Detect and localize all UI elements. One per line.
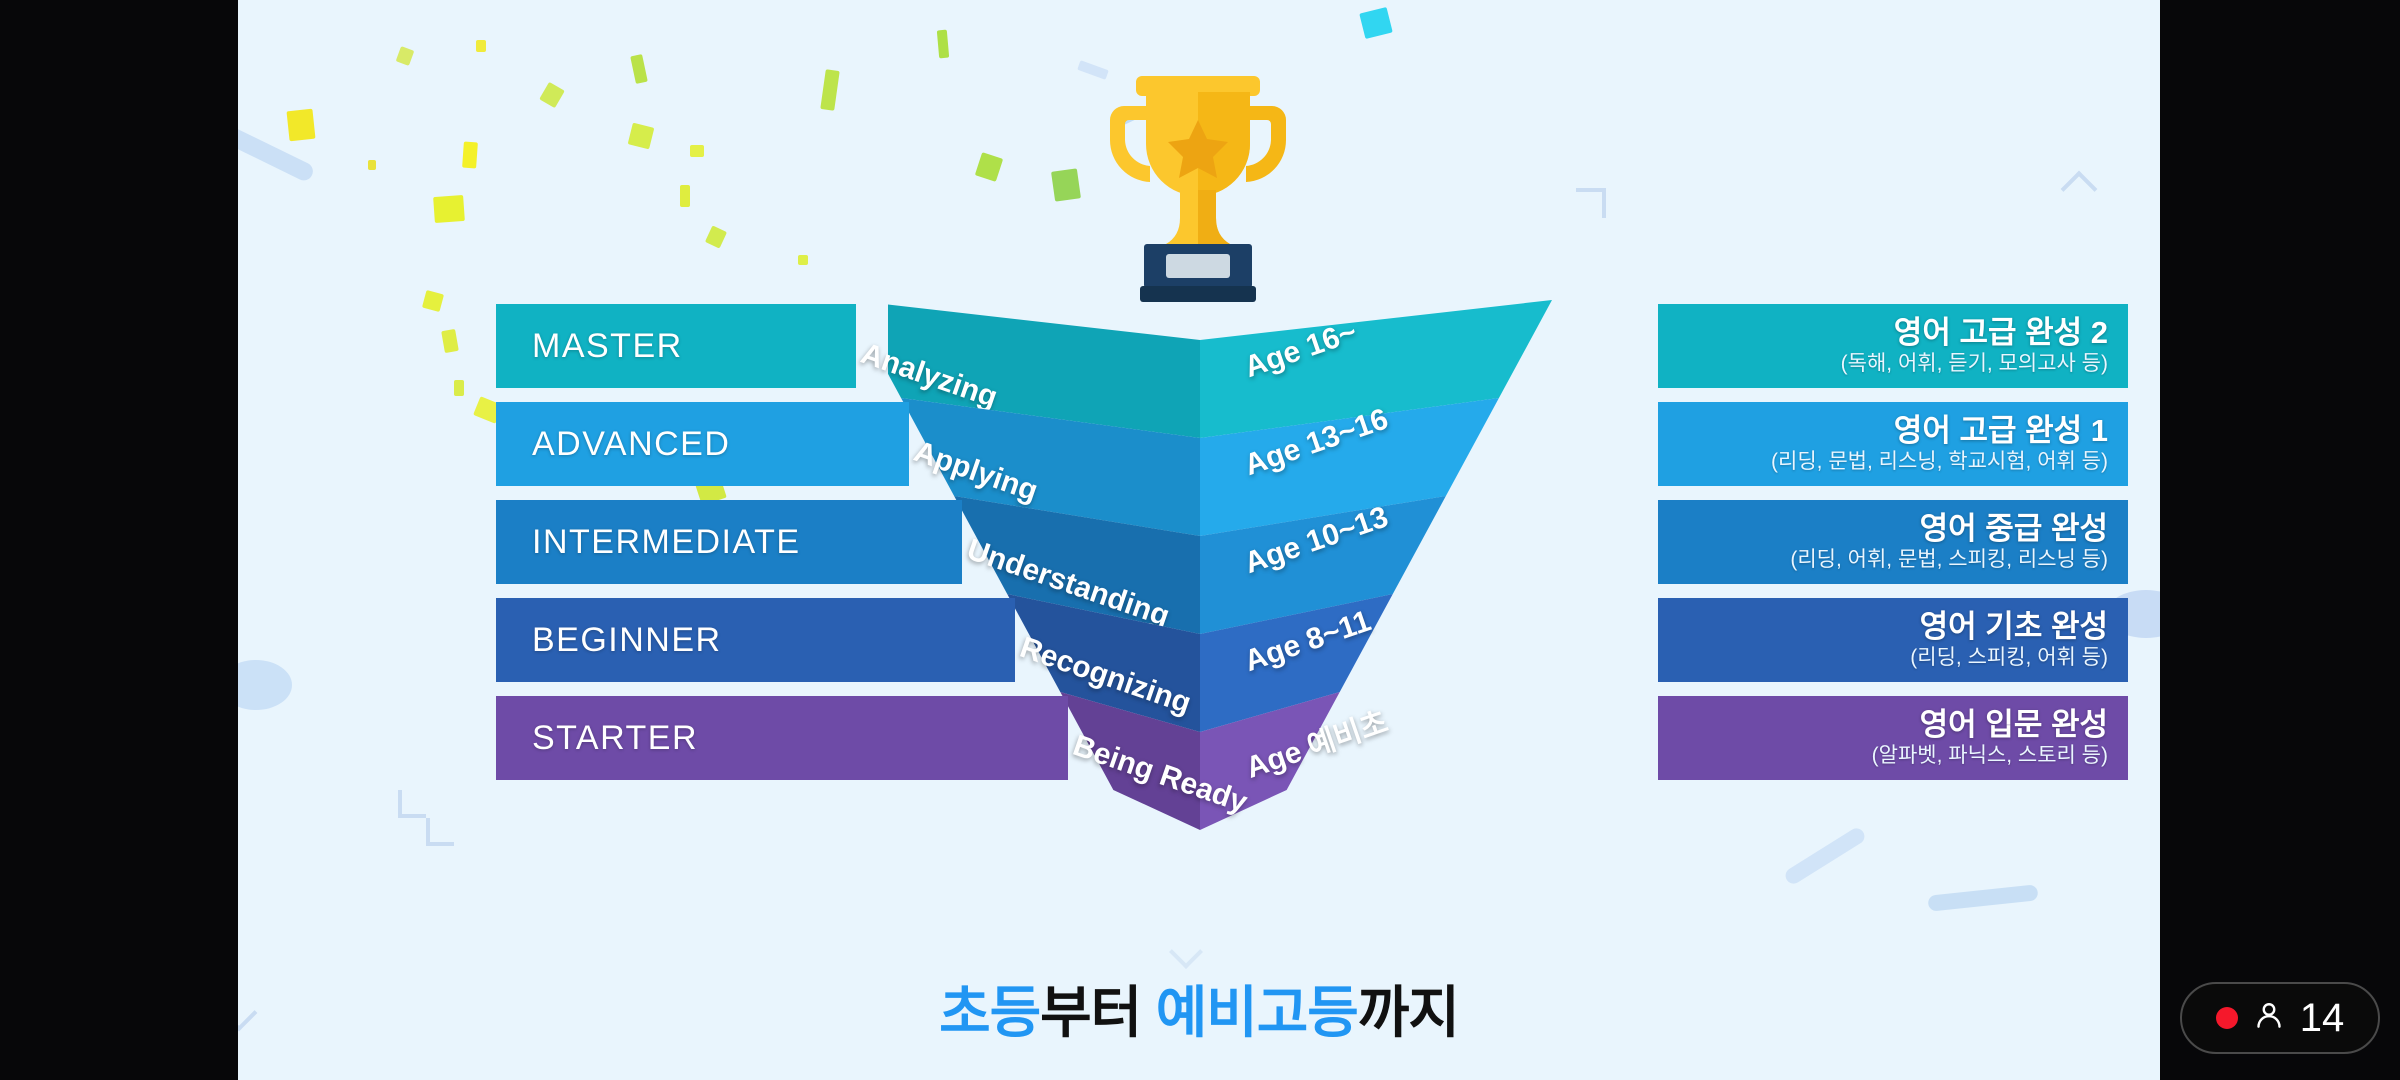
- confetti-piece: [630, 54, 648, 84]
- confetti-piece: [798, 255, 808, 265]
- level-subtitle-beginner: (리딩, 스피킹, 어휘 등): [1658, 647, 2108, 669]
- level-name-bar-master[interactable]: MASTER: [496, 304, 856, 388]
- confetti-piece: [396, 46, 415, 66]
- level-subtitle-intermediate: (리딩, 어휘, 문법, 스피킹, 리스닝 등): [1658, 549, 2108, 571]
- confetti-piece: [539, 82, 565, 108]
- level-detail-bar-intermediate[interactable]: 영어 중급 완성(리딩, 어휘, 문법, 스피킹, 리스닝 등): [1658, 500, 2128, 584]
- level-name-master: MASTER: [532, 327, 683, 366]
- confetti-piece: [1051, 168, 1081, 201]
- confetti-piece: [454, 380, 464, 396]
- confetti-piece: [975, 152, 1003, 182]
- confetti-piece: [628, 123, 655, 150]
- confetti-piece: [680, 185, 690, 207]
- screen-root: AnalyzingAge 16~ApplyingAge 13~16Underst…: [0, 0, 2400, 1080]
- streak-decor-1: [1927, 884, 2038, 911]
- presentation-slide: AnalyzingAge 16~ApplyingAge 13~16Underst…: [238, 0, 2160, 1080]
- level-name-bar-beginner[interactable]: BEGINNER: [496, 598, 1015, 682]
- level-title-beginner: 영어 기초 완성: [1658, 611, 2108, 644]
- confetti-piece: [433, 195, 465, 223]
- headline-seg-1: 초등: [939, 981, 1040, 1044]
- viewer-count: 14: [2300, 996, 2345, 1041]
- letterbox-left: [0, 0, 238, 1080]
- chevron-decor-1: [398, 790, 426, 818]
- level-name-intermediate: INTERMEDIATE: [532, 523, 801, 562]
- level-name-starter: STARTER: [532, 719, 698, 758]
- level-name-bar-advanced[interactable]: ADVANCED: [496, 402, 909, 486]
- headline-seg-2: 부터: [1040, 981, 1156, 1044]
- level-detail-text-beginner: 영어 기초 완성(리딩, 스피킹, 어휘 등): [1658, 611, 2128, 670]
- level-name-bar-intermediate[interactable]: INTERMEDIATE: [496, 500, 962, 584]
- letterbox-right: [2160, 0, 2400, 1080]
- level-subtitle-master: (독해, 어휘, 듣기, 모의고사 등): [1658, 353, 2108, 375]
- confetti-piece: [422, 290, 444, 312]
- level-name-beginner: BEGINNER: [532, 621, 722, 660]
- confetti-piece: [476, 40, 486, 52]
- level-detail-text-intermediate: 영어 중급 완성(리딩, 어휘, 문법, 스피킹, 리스닝 등): [1658, 513, 2128, 572]
- live-dot-icon: [2216, 1007, 2238, 1029]
- streak-decor-2: [1783, 825, 1868, 886]
- level-name-bar-starter[interactable]: STARTER: [496, 696, 1068, 780]
- confetti-piece: [462, 142, 478, 169]
- level-title-starter: 영어 입문 완성: [1658, 709, 2108, 742]
- page-headline: 초등부터 예비고등까지: [238, 968, 2160, 1049]
- level-detail-bar-beginner[interactable]: 영어 기초 완성(리딩, 스피킹, 어휘 등): [1658, 598, 2128, 682]
- confetti-piece: [287, 109, 316, 142]
- confetti-piece: [937, 30, 949, 59]
- level-title-intermediate: 영어 중급 완성: [1658, 513, 2108, 546]
- blob-decor-1: [238, 660, 292, 710]
- confetti-piece: [690, 145, 704, 157]
- chevron-decor-2: [426, 818, 454, 846]
- level-title-advanced: 영어 고급 완성 1: [1658, 415, 2108, 448]
- confetti-piece: [368, 160, 376, 170]
- level-detail-bar-master[interactable]: 영어 고급 완성 2(독해, 어휘, 듣기, 모의고사 등): [1658, 304, 2128, 388]
- chevron-decor-3: [1576, 188, 1606, 218]
- level-detail-bar-starter[interactable]: 영어 입문 완성(알파벳, 파닉스, 스토리 등): [1658, 696, 2128, 780]
- level-detail-text-advanced: 영어 고급 완성 1(리딩, 문법, 리스닝, 학교시험, 어휘 등): [1658, 415, 2128, 474]
- level-detail-text-starter: 영어 입문 완성(알파벳, 파닉스, 스토리 등): [1658, 709, 2128, 768]
- level-title-master: 영어 고급 완성 2: [1658, 317, 2108, 350]
- level-detail-bar-advanced[interactable]: 영어 고급 완성 1(리딩, 문법, 리스닝, 학교시험, 어휘 등): [1658, 402, 2128, 486]
- chevron-decor-4: [2061, 171, 2098, 208]
- confetti-piece: [705, 225, 727, 248]
- live-viewer-badge[interactable]: 14: [2180, 982, 2380, 1054]
- level-subtitle-starter: (알파벳, 파닉스, 스토리 등): [1658, 745, 2108, 767]
- confetti-piece: [441, 329, 459, 353]
- person-icon: [2252, 999, 2286, 1038]
- confetti-piece: [1359, 7, 1392, 39]
- trophy-icon: [1100, 58, 1296, 303]
- level-name-advanced: ADVANCED: [532, 425, 730, 464]
- headline-seg-3: 예비고등: [1156, 981, 1358, 1044]
- level-detail-text-master: 영어 고급 완성 2(독해, 어휘, 듣기, 모의고사 등): [1658, 317, 2128, 376]
- level-subtitle-advanced: (리딩, 문법, 리스닝, 학교시험, 어휘 등): [1658, 451, 2108, 473]
- confetti-piece: [820, 69, 839, 111]
- headline-seg-4: 까지: [1358, 981, 1459, 1044]
